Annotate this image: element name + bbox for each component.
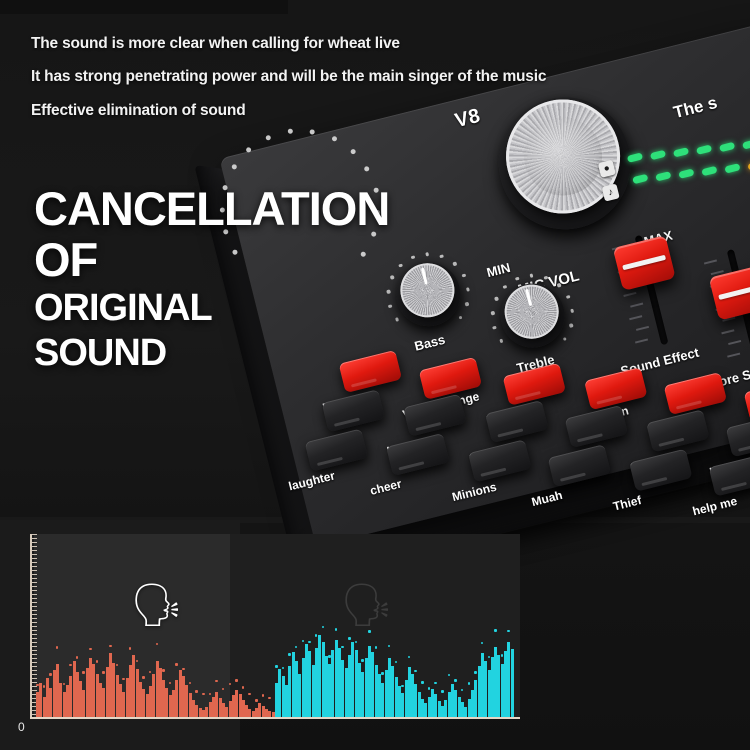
person-speaking-icon: 🗣 <box>130 584 183 626</box>
spectrum-peak-dot <box>395 661 398 664</box>
spectrum-peak-dot <box>488 656 491 659</box>
spectrum-peak-dot <box>56 646 59 649</box>
knob-scale-dot <box>544 276 548 280</box>
led-indicator-green <box>678 168 694 178</box>
effect-pad-button[interactable] <box>305 428 369 471</box>
knob-scale-dot <box>494 297 498 301</box>
effect-pad-button[interactable] <box>646 409 710 452</box>
spectrum-peak-dot <box>142 676 145 679</box>
spectrum-peak-dot <box>242 686 245 689</box>
spectrum-peak-dot <box>229 683 232 686</box>
spectrum-peak-dot <box>215 680 218 683</box>
screenshot-root: The sound is more clear when calling for… <box>0 0 750 750</box>
spectrum-peak-dot <box>328 655 331 658</box>
effect-pad-button[interactable] <box>584 367 648 410</box>
knob-scale-dot <box>515 277 519 281</box>
spectrum-peak-dot <box>341 646 344 649</box>
spectrum-peak-dot <box>414 670 417 673</box>
visualizer-zero-label: 0 <box>18 720 25 734</box>
spectrum-peak-dot <box>43 685 46 688</box>
knob-scale-dot <box>566 295 570 299</box>
effect-pad-button[interactable] <box>548 444 612 487</box>
knob-scale-dot <box>350 148 356 154</box>
effect-pad-button[interactable] <box>565 405 629 448</box>
spectrum-peak-dot <box>36 684 39 687</box>
spectrum-peak-dot <box>454 679 457 682</box>
spectrum-peak-dot <box>248 693 251 696</box>
spectrum-peak-dot <box>189 682 192 685</box>
knob-scale-dot <box>503 285 507 289</box>
spectrum-peak-dot <box>494 629 497 632</box>
visualizer-baseline <box>30 717 520 719</box>
bass-knob-indicator <box>420 268 427 285</box>
audio-spectrum-visualizer: 0 🗣 🗣 <box>22 534 530 734</box>
spectrum-peak-dot <box>388 645 391 648</box>
visualizer-bars <box>36 534 520 717</box>
spectrum-peak-dot <box>441 690 444 693</box>
spectrum-peak-dot <box>262 694 265 697</box>
spectrum-peak-dot <box>428 687 431 690</box>
spectrum-peak-dot <box>175 663 178 666</box>
spectrum-peak-dot <box>288 653 291 656</box>
spectrum-peak-dot <box>335 628 338 631</box>
effect-pad-button[interactable] <box>403 394 467 437</box>
spectrum-peak-dot <box>69 664 72 667</box>
knob-scale-dot <box>395 317 399 321</box>
spectrum-peak-dot <box>156 643 159 646</box>
spectrum-peak-dot <box>381 672 384 675</box>
spectrum-peak-dot <box>222 688 225 691</box>
spectrum-peak-dot <box>162 669 165 672</box>
spectrum-peak-dot <box>76 656 79 659</box>
knob-scale-dot <box>465 302 469 306</box>
spectrum-peak-dot <box>235 679 238 682</box>
spectrum-peak-dot <box>315 634 318 637</box>
marketing-copy: The sound is more clear when calling for… <box>31 36 671 136</box>
knob-scale-dot <box>231 164 237 170</box>
spectrum-peak-dot <box>116 664 119 667</box>
headline-line-4: SOUND <box>34 335 389 371</box>
knob-scale-dot <box>398 263 402 267</box>
copy-line-2: It has strong penetrating power and will… <box>31 69 671 85</box>
spectrum-peak-dot <box>268 697 271 700</box>
spectrum-peak-dot <box>275 665 278 668</box>
spectrum-peak-dot <box>63 683 66 686</box>
spectrum-peak-dot <box>461 689 464 692</box>
headline-line-2: OF <box>34 237 389 282</box>
knob-scale-dot <box>452 262 456 266</box>
spectrum-peak-dot <box>501 654 504 657</box>
effect-pad-button[interactable] <box>726 414 750 457</box>
knob-scale-dot <box>411 255 415 259</box>
copy-line-3: Effective elimination of sound <box>31 103 671 119</box>
knob-scale-dot <box>390 275 394 279</box>
spectrum-peak-dot <box>368 630 371 633</box>
spectrum-bar <box>511 649 514 717</box>
spectrum-peak-dot <box>129 647 132 650</box>
spectrum-peak-dot <box>255 699 258 702</box>
knob-scale-dot <box>364 166 370 172</box>
effect-pad-button[interactable] <box>744 379 750 422</box>
led-indicator-green <box>724 163 740 173</box>
knob-scale-dot <box>246 147 252 153</box>
spectrum-peak-dot <box>195 690 198 693</box>
spectrum-peak-dot <box>295 646 298 649</box>
effect-pad-button[interactable] <box>485 400 549 443</box>
spectrum-peak-dot <box>421 681 424 684</box>
effect-pad-button[interactable] <box>503 363 567 406</box>
fader-tick <box>704 259 717 264</box>
effect-pad-button[interactable] <box>386 433 450 476</box>
knob-scale-dot <box>440 254 444 258</box>
visualizer-axis-line <box>30 534 32 718</box>
person-speaking-icon-muted: 🗣 <box>340 584 393 626</box>
effect-pad-button[interactable] <box>468 439 532 482</box>
spectrum-peak-dot <box>302 640 305 643</box>
led-indicator-green <box>742 139 750 149</box>
effect-pad-label: help me <box>691 494 738 519</box>
led-indicator-green <box>650 150 666 160</box>
page-title: CANCELLATION OF ORIGINAL SOUND <box>34 186 389 371</box>
knob-scale-dot <box>466 288 470 292</box>
spectrum-peak-dot <box>322 626 325 629</box>
background-top-block <box>0 0 288 14</box>
spectrum-peak-dot <box>308 641 311 644</box>
spectrum-peak-dot <box>481 642 484 645</box>
spectrum-peak-dot <box>89 648 92 651</box>
knob-scale-dot <box>529 273 533 277</box>
copy-line-1: The sound is more clear when calling for… <box>31 36 671 52</box>
spectrum-peak-dot <box>401 685 404 688</box>
spectrum-peak-dot <box>49 673 52 676</box>
headline-line-1: CANCELLATION <box>34 186 389 231</box>
spectrum-peak-dot <box>434 682 437 685</box>
knob-scale-dot <box>331 136 337 142</box>
effect-pad-button[interactable] <box>664 372 728 415</box>
spectrum-peak-dot <box>361 659 364 662</box>
mic-vol-min-label: MIN <box>485 260 512 280</box>
spectrum-peak-dot <box>82 671 85 674</box>
effect-pad-button[interactable] <box>322 389 386 432</box>
spectrum-peak-dot <box>102 671 105 674</box>
spectrum-peak-dot <box>282 667 285 670</box>
effect-pad-label: Minions <box>451 480 498 505</box>
led-indicator-green <box>701 166 717 176</box>
spectrum-peak-dot <box>209 693 212 696</box>
spectrum-peak-dot <box>448 674 451 677</box>
spectrum-peak-dot <box>507 630 510 633</box>
knob-scale-dot <box>491 311 495 315</box>
led-indicator-green <box>632 174 648 184</box>
spectrum-peak-dot <box>169 682 172 685</box>
headline-line-3: ORIGINAL <box>34 290 389 326</box>
device-side-text: The s <box>672 93 720 123</box>
led-indicator-green <box>696 144 712 154</box>
spectrum-peak-dot <box>355 641 358 644</box>
led-indicator-green <box>719 142 735 152</box>
spectrum-peak-dot <box>375 646 378 649</box>
spectrum-peak-dot <box>202 693 205 696</box>
bass-knob[interactable] <box>390 255 468 333</box>
led-indicator-green <box>673 147 689 157</box>
spectrum-peak-dot <box>182 668 185 671</box>
spectrum-peak-dot <box>109 645 112 648</box>
knob-scale-dot <box>557 283 561 287</box>
spectrum-peak-dot <box>96 660 99 663</box>
treble-knob-indicator <box>525 289 532 306</box>
spectrum-peak-dot <box>468 682 471 685</box>
spectrum-peak-dot <box>149 671 152 674</box>
spectrum-peak-dot <box>122 678 125 681</box>
spectrum-peak-dot <box>474 671 477 674</box>
led-indicator-green <box>655 171 671 181</box>
spectrum-peak-dot <box>136 660 139 663</box>
spectrum-peak-dot <box>348 637 351 640</box>
knob-scale-dot <box>462 273 466 277</box>
knob-scale-dot <box>459 316 463 320</box>
effect-pad-label: cheer <box>369 477 403 498</box>
knob-scale-dot <box>425 252 429 256</box>
spectrum-peak-dot <box>408 656 411 659</box>
